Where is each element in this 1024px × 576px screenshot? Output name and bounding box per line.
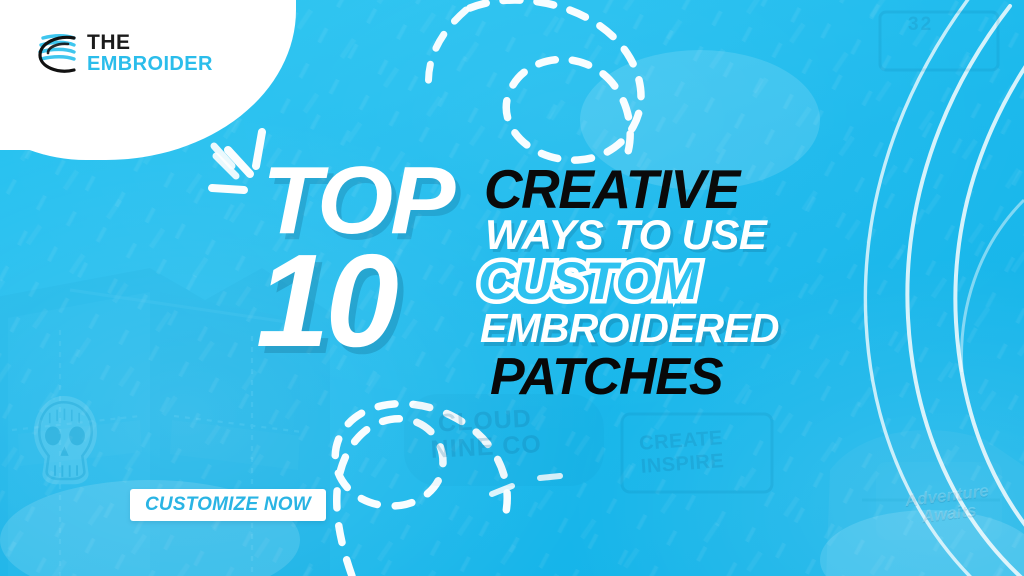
- headline-word-embroidered: EMBROIDERED: [480, 310, 779, 347]
- embroidery-thread-e-mark-icon: [34, 29, 78, 77]
- brand-logo[interactable]: THE EMBROIDER: [34, 29, 213, 77]
- logo-text: THE EMBROIDER: [87, 32, 213, 74]
- headline-word-custom: CUSTOM: [478, 258, 698, 307]
- headline-word-number: 10: [256, 242, 395, 361]
- customize-now-button[interactable]: CUSTOMIZE NOW: [130, 489, 326, 521]
- headline-block: TOP 10 CREATIVE WAYS TO USE CUSTOM EMBRO…: [262, 158, 807, 406]
- dashed-stitch-line-upper-tail: [429, 10, 467, 96]
- logo-line-the: THE: [87, 32, 213, 53]
- headline-word-patches: PATCHES: [490, 354, 722, 401]
- headline-word-ways-to-use: WAYS TO USE: [485, 216, 766, 254]
- customize-now-label: CUSTOMIZE NOW: [145, 495, 311, 514]
- headline-word-custom-wrapper: CUSTOM: [478, 258, 698, 307]
- promo-banner: THE EMBROIDER TOP 10 CREATIVE WAYS TO US…: [0, 0, 1024, 576]
- headline-word-creative: CREATIVE: [484, 165, 739, 215]
- skull-patch-watermark: [34, 396, 97, 484]
- corner-arc-secondary: [962, 200, 1024, 372]
- logo-line-embroider: EMBROIDER: [87, 54, 213, 74]
